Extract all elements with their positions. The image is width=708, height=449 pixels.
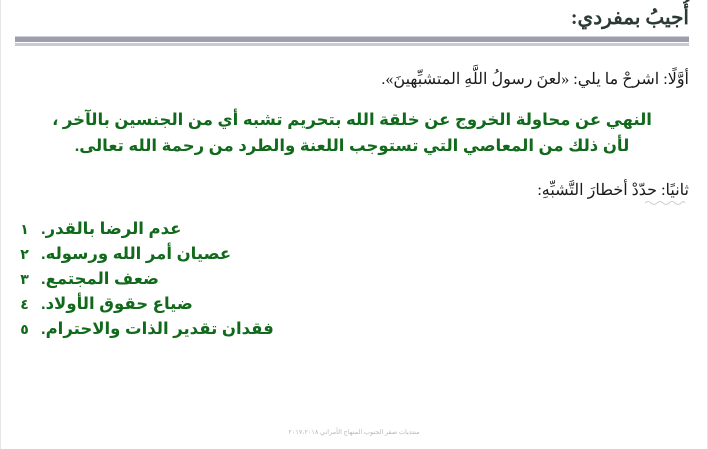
- list-item-label: عدم الرضا بالقدر.: [41, 219, 181, 239]
- list-item-number: ٣: [17, 272, 32, 288]
- page-title: أُجيبُ بمفردي:: [567, 6, 689, 31]
- list-item-label: ضياع حقوق الأولاد.: [41, 294, 193, 314]
- question-two-row: ثانيًا: حدّدْ أخطارَ التَّشبِّهِ:: [15, 179, 689, 203]
- list-item-number: ١: [17, 222, 32, 238]
- list-item-label: عصيان أمر الله ورسوله.: [41, 244, 231, 264]
- list-item: فقدان تقدير الذات والاحترام. ٥: [17, 319, 689, 339]
- divider-bar-top: [15, 36, 689, 42]
- list-item: عدم الرضا بالقدر. ١: [17, 219, 689, 239]
- list-item-number: ٥: [17, 322, 32, 338]
- list-item: ضعف المجتمع. ٣: [17, 269, 689, 289]
- footer-watermark: منتديات صقر الجنوب المنهاج الأمراني ٢٠١٧…: [1, 428, 707, 436]
- list-item: ضياع حقوق الأولاد. ٤: [17, 294, 689, 314]
- worksheet-page: أُجيبُ بمفردي: أوَّلًا: اشرحْ ما يلي: «ل…: [0, 0, 708, 449]
- list-item-label: ضعف المجتمع.: [41, 269, 159, 289]
- answer-two-list: عدم الرضا بالقدر. ١ عصيان أمر الله ورسول…: [15, 219, 689, 339]
- title-divider: [15, 36, 689, 46]
- question-two-text: ثانيًا: حدّدْ أخطارَ التَّشبِّهِ:: [537, 182, 689, 199]
- list-item: عصيان أمر الله ورسوله. ٢: [17, 244, 689, 264]
- squiggle-underline-icon: [644, 199, 686, 206]
- list-item-number: ٤: [17, 297, 32, 313]
- answer-one-line-1: النهي عن محاولة الخروج عن خلقة الله بتحر…: [17, 108, 687, 134]
- list-item-number: ٢: [17, 247, 32, 263]
- question-one-text: أوَّلًا: اشرحْ ما يلي: «لعنَ رسولُ اللَّ…: [15, 68, 689, 92]
- page-title-row: أُجيبُ بمفردي:: [15, 0, 689, 31]
- list-item-label: فقدان تقدير الذات والاحترام.: [41, 319, 274, 339]
- answer-one: النهي عن محاولة الخروج عن خلقة الله بتحر…: [15, 108, 689, 159]
- answer-one-line-2: لأن ذلك من المعاصي التي تستوجب اللعنة وا…: [17, 134, 687, 160]
- divider-bar-bottom: [15, 43, 689, 46]
